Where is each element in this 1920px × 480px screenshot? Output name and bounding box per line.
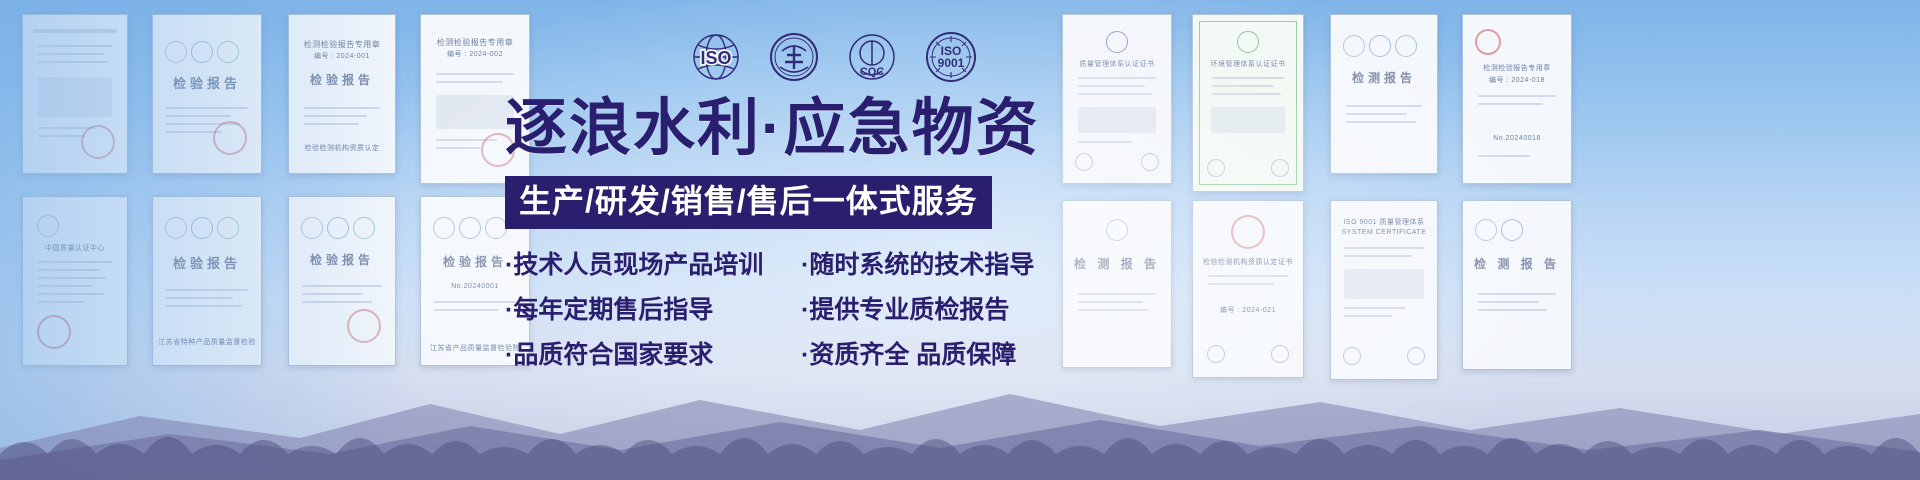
- certificate-thumb: 检验报告: [152, 14, 262, 174]
- iso-badge-label: ISO: [700, 48, 731, 68]
- feature-list: ·技术人员现场产品培训 ·随时系统的技术指导 ·每年定期售后指导 ·提供专业质检…: [505, 253, 1085, 368]
- feature-item: ·提供专业质检报告: [801, 298, 1009, 323]
- promo-banner: 检验报告 检测检验报告专用章 编号 : 2024-001 检验报告 检验检测机构…: [0, 0, 1920, 480]
- feature-item: ·技术人员现场产品培训: [505, 253, 801, 278]
- feature-row: ·技术人员现场产品培训 ·随时系统的技术指导: [505, 253, 1085, 278]
- treeline-silhouette: [0, 410, 1920, 480]
- feature-row: ·品质符合国家要求 ·资质齐全 品质保障: [505, 343, 1085, 368]
- certificate-thumb: 检测检验报告专用章 编号 : 2024-001 检验报告 检验检测机构资质认定: [288, 14, 396, 174]
- iso-badge: ISO: [690, 31, 742, 88]
- feature-item: ·随时系统的技术指导: [801, 253, 1034, 278]
- cqc-badge: CQC: [846, 31, 898, 88]
- banner-subtitle-bar: 生产/研发/销售/售后一体式服务: [505, 176, 992, 229]
- certificate-thumb: 检测报告: [1330, 14, 1438, 174]
- cqc-badge-label: CQC: [860, 66, 885, 78]
- iso9001-badge: ISO 9001: [924, 30, 978, 89]
- seal-badge: [768, 31, 820, 88]
- feature-item: ·资质齐全 品质保障: [801, 343, 1016, 368]
- feature-item: ·每年定期售后指导: [505, 298, 801, 323]
- feature-row: ·每年定期售后指导 ·提供专业质检报告: [505, 298, 1085, 323]
- banner-subtitle: 生产/研发/销售/售后一体式服务: [519, 183, 978, 220]
- certification-badges: ISO CQC: [690, 30, 978, 89]
- banner-headline: 逐浪水利·应急物资: [505, 96, 1085, 162]
- certificate-thumb: [22, 14, 128, 174]
- banner-content: 逐浪水利·应急物资 生产/研发/销售/售后一体式服务 ·技术人员现场产品培训 ·…: [505, 96, 1085, 388]
- iso9001-badge-label-bottom: 9001: [938, 56, 965, 70]
- certificate-thumb: 检测检验报告专用章 编号 : 2024-018 No.20240018: [1462, 14, 1572, 184]
- certificate-thumb: 环境管理体系认证证书: [1192, 14, 1304, 192]
- feature-item: ·品质符合国家要求: [505, 343, 801, 368]
